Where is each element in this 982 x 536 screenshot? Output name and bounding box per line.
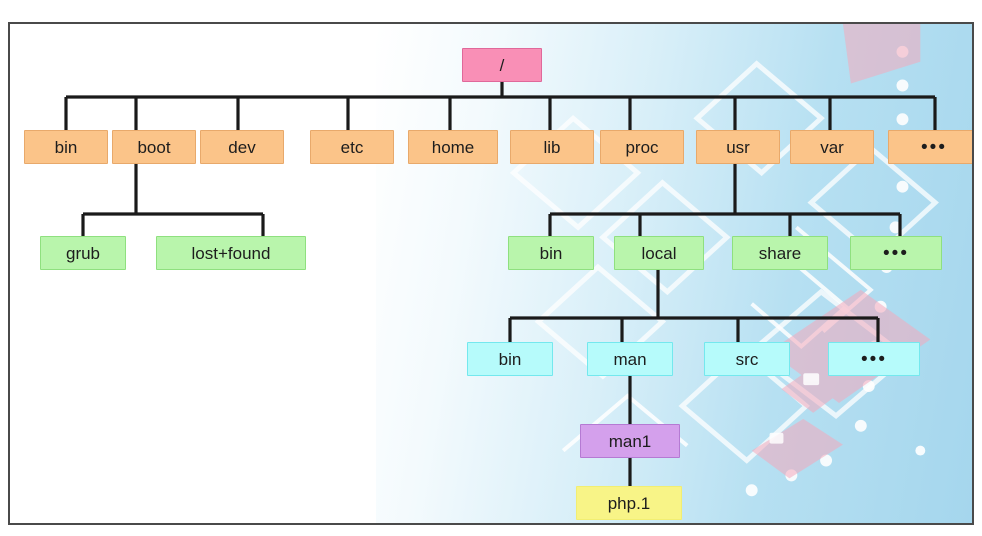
tree-node-label: bin — [540, 245, 563, 262]
tree-node-label: ••• — [921, 138, 947, 157]
tree-node-local-src[interactable]: src — [704, 342, 790, 376]
tree-node-label: man — [613, 351, 646, 368]
tree-node-label: local — [642, 245, 677, 262]
tree-node-label: usr — [726, 139, 750, 156]
tree-node-label: / — [500, 57, 505, 74]
tree-node-local-man[interactable]: man — [587, 342, 673, 376]
tree-node-proc[interactable]: proc — [600, 130, 684, 164]
tree-node-root[interactable]: / — [462, 48, 542, 82]
tree-node-label: src — [736, 351, 759, 368]
tree-node-usr-more[interactable]: ••• — [850, 236, 942, 270]
tree-node-boot[interactable]: boot — [112, 130, 196, 164]
tree-node-usr-share[interactable]: share — [732, 236, 828, 270]
diagram-frame: / bin boot dev etc home lib proc usr var — [8, 22, 974, 525]
tree-node-label: var — [820, 139, 844, 156]
tree-node-label: boot — [137, 139, 170, 156]
tree-node-usr-bin[interactable]: bin — [508, 236, 594, 270]
tree-node-label: bin — [55, 139, 78, 156]
tree-node-home[interactable]: home — [408, 130, 498, 164]
tree-node-lost-found[interactable]: lost+found — [156, 236, 306, 270]
tree-node-man1[interactable]: man1 — [580, 424, 680, 458]
tree-node-label: lib — [543, 139, 560, 156]
tree-node-bin[interactable]: bin — [24, 130, 108, 164]
tree-node-dev[interactable]: dev — [200, 130, 284, 164]
tree-node-local-more[interactable]: ••• — [828, 342, 920, 376]
tree-node-label: ••• — [861, 350, 887, 369]
tree-node-php1[interactable]: php.1 — [576, 486, 682, 520]
tree-node-label: etc — [341, 139, 364, 156]
tree-node-label: bin — [499, 351, 522, 368]
tree-node-label: lost+found — [192, 245, 271, 262]
tree-node-label: man1 — [609, 433, 652, 450]
tree-node-usr[interactable]: usr — [696, 130, 780, 164]
diagram-canvas: / bin boot dev etc home lib proc usr var — [0, 0, 982, 536]
tree-node-label: php.1 — [608, 495, 651, 512]
tree-node-label: grub — [66, 245, 100, 262]
tree-node-var[interactable]: var — [790, 130, 874, 164]
tree-node-label: home — [432, 139, 475, 156]
tree-connectors — [10, 24, 974, 525]
tree-node-label: ••• — [883, 244, 909, 263]
tree-node-label: proc — [625, 139, 658, 156]
tree-node-lib[interactable]: lib — [510, 130, 594, 164]
tree-node-label: dev — [228, 139, 255, 156]
tree-node-usr-local[interactable]: local — [614, 236, 704, 270]
tree-node-root-more[interactable]: ••• — [888, 130, 974, 164]
tree-node-local-bin[interactable]: bin — [467, 342, 553, 376]
tree-node-etc[interactable]: etc — [310, 130, 394, 164]
tree-node-grub[interactable]: grub — [40, 236, 126, 270]
tree-node-label: share — [759, 245, 802, 262]
